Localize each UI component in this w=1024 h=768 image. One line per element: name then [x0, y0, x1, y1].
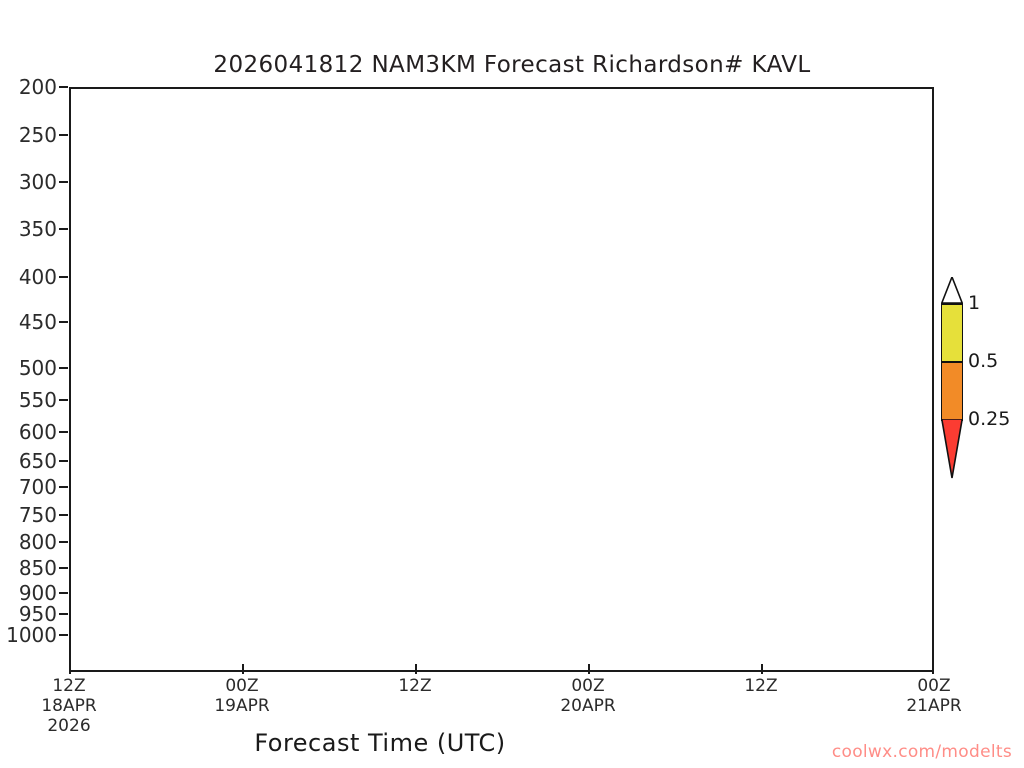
x-tick-date: 18APR	[41, 696, 96, 716]
x-axis-title: Forecast Time (UTC)	[0, 729, 760, 757]
credit-watermark: coolwx.com/modelts	[832, 742, 1012, 762]
colorbar-band-orange	[941, 361, 963, 419]
x-axis-tick-label: 00Z20APR	[560, 676, 615, 716]
y-axis-tick-mark	[59, 541, 68, 543]
x-axis-tick-mark	[242, 664, 244, 674]
y-axis-tick-mark	[59, 486, 68, 488]
y-axis-tick-label: 700	[19, 475, 57, 499]
x-tick-time: 00Z	[225, 676, 258, 696]
colorbar-label: 0.25	[968, 408, 1010, 430]
chart-title-text: 2026041812 NAM3KM Forecast Richardson# K…	[213, 52, 810, 78]
y-axis-tick-label: 450	[19, 310, 57, 334]
y-axis-tick-label: 300	[19, 170, 57, 194]
y-axis-tick-mark	[59, 613, 68, 615]
y-axis-tick-label: 1000	[6, 623, 57, 647]
x-tick-time: 12Z	[744, 676, 777, 696]
x-tick-time: 12Z	[52, 676, 85, 696]
y-axis-tick-label: 500	[19, 356, 57, 380]
x-axis-tick-mark	[415, 664, 417, 674]
colorbar-over-arrow-outline	[941, 277, 963, 304]
y-axis-tick-mark	[59, 514, 68, 516]
y-axis-tick-mark	[59, 431, 68, 433]
x-tick-date: 19APR	[214, 696, 269, 716]
colorbar-label: 1	[968, 292, 980, 314]
y-axis-tick-label: 250	[19, 123, 57, 147]
x-axis-tick-label: 00Z19APR	[214, 676, 269, 716]
x-tick-date: 20APR	[560, 696, 615, 716]
plot-area	[69, 87, 934, 672]
x-axis-tick-mark	[588, 664, 590, 674]
colorbar: 10.50.25	[941, 303, 963, 478]
y-axis-tick-label: 850	[19, 556, 57, 580]
x-tick-date: 21APR	[906, 696, 961, 716]
y-axis-tick-mark	[59, 134, 68, 136]
x-axis-tick-label: 00Z21APR	[906, 676, 961, 716]
chart-title: 2026041812 NAM3KM Forecast Richardson# K…	[0, 52, 1024, 78]
y-axis-tick-label: 800	[19, 530, 57, 554]
y-axis-tick-label: 400	[19, 265, 57, 289]
y-axis-tick-mark	[59, 592, 68, 594]
chart-page: 2026041812 NAM3KM Forecast Richardson# K…	[0, 0, 1024, 768]
x-axis-tick-mark	[932, 664, 934, 674]
x-axis-tick-mark	[69, 664, 71, 674]
plot-frame	[69, 87, 934, 672]
colorbar-separator-0	[941, 303, 963, 305]
y-axis-tick-label: 600	[19, 420, 57, 444]
x-axis-tick-label: 12Z18APR2026	[41, 676, 96, 736]
y-axis-tick-label: 550	[19, 388, 57, 412]
x-tick-time: 00Z	[571, 676, 604, 696]
y-axis-tick-mark	[59, 399, 68, 401]
y-axis-tick-label: 200	[19, 75, 57, 99]
y-axis-tick-label: 350	[19, 217, 57, 241]
y-axis-tick-label: 750	[19, 503, 57, 527]
x-axis-tick-mark	[761, 664, 763, 674]
colorbar-label: 0.5	[968, 350, 998, 372]
colorbar-band-yellow	[941, 303, 963, 361]
x-axis-tick-label: 12Z	[398, 676, 431, 696]
y-axis-tick-mark	[59, 567, 68, 569]
colorbar-separator-1	[941, 361, 963, 363]
x-tick-time: 12Z	[398, 676, 431, 696]
y-axis-tick-mark	[59, 460, 68, 462]
y-axis-tick-mark	[59, 276, 68, 278]
x-axis-tick-label: 12Z	[744, 676, 777, 696]
y-axis-tick-label: 650	[19, 449, 57, 473]
x-tick-time: 00Z	[917, 676, 950, 696]
y-axis: 2002503003504004505005506006507007508008…	[0, 87, 69, 672]
y-axis-tick-mark	[59, 181, 68, 183]
y-axis-tick-mark	[59, 634, 68, 636]
y-axis-tick-mark	[59, 321, 68, 323]
y-axis-tick-mark	[59, 86, 68, 88]
y-axis-tick-mark	[59, 228, 68, 230]
y-axis-tick-mark	[59, 367, 68, 369]
colorbar-under-arrow	[941, 419, 963, 479]
